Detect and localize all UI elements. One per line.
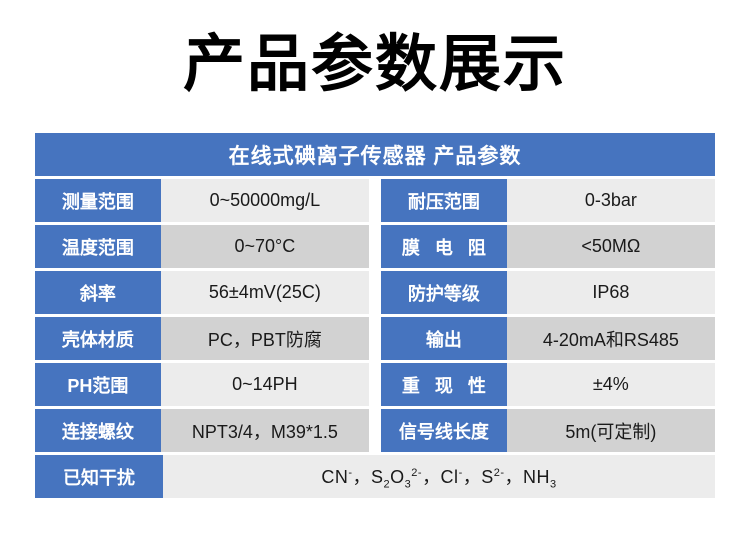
value-protection-grade: IP68 [507, 271, 715, 314]
product-spec-page: 产品参数展示 在线式碘离子传感器 产品参数 测量范围 0~50000mg/L 耐… [0, 0, 750, 550]
label-reproducibility: 重 现 性 [381, 363, 507, 406]
interference-formula: CN-，S2O32-，Cl-，S2-，NH3 [321, 463, 556, 491]
table-row: 温度范围 0~70°C 膜 电 阻 <50MΩ [35, 225, 715, 268]
spec-table: 在线式碘离子传感器 产品参数 测量范围 0~50000mg/L 耐压范围 0-3… [35, 133, 715, 498]
column-gap [369, 363, 381, 406]
table-row: PH范围 0~14PH 重 现 性 ±4% [35, 363, 715, 406]
value-housing-material: PC，PBT防腐 [161, 317, 369, 360]
column-gap [369, 179, 381, 222]
label-measuring-range: 测量范围 [35, 179, 161, 222]
value-membrane-resistance: <50MΩ [507, 225, 715, 268]
label-ph-range: PH范围 [35, 363, 161, 406]
label-cable-length: 信号线长度 [381, 409, 507, 452]
value-reproducibility: ±4% [507, 363, 715, 406]
table-row: 斜率 56±4mV(25C) 防护等级 IP68 [35, 271, 715, 314]
label-slope: 斜率 [35, 271, 161, 314]
value-known-interference: CN-，S2O32-，Cl-，S2-，NH3 [163, 455, 715, 498]
table-row: 已知干扰 CN-，S2O32-，Cl-，S2-，NH3 [35, 455, 715, 498]
label-output: 输出 [381, 317, 507, 360]
page-title: 产品参数展示 [0, 26, 750, 104]
column-gap [369, 317, 381, 360]
column-gap [369, 409, 381, 452]
column-gap [369, 225, 381, 268]
value-output: 4-20mA和RS485 [507, 317, 715, 360]
value-ph-range: 0~14PH [161, 363, 369, 406]
label-membrane-resistance: 膜 电 阻 [381, 225, 507, 268]
value-temperature-range: 0~70°C [161, 225, 369, 268]
column-gap [369, 271, 381, 314]
label-connection-thread: 连接螺纹 [35, 409, 161, 452]
value-connection-thread: NPT3/4，M39*1.5 [161, 409, 369, 452]
label-housing-material: 壳体材质 [35, 317, 161, 360]
label-pressure-range: 耐压范围 [381, 179, 507, 222]
value-slope: 56±4mV(25C) [161, 271, 369, 314]
label-temperature-range: 温度范围 [35, 225, 161, 268]
value-pressure-range: 0-3bar [507, 179, 715, 222]
table-row: 测量范围 0~50000mg/L 耐压范围 0-3bar [35, 179, 715, 222]
label-protection-grade: 防护等级 [381, 271, 507, 314]
table-header-title: 在线式碘离子传感器 产品参数 [35, 133, 715, 176]
value-cable-length: 5m(可定制) [507, 409, 715, 452]
table-row: 壳体材质 PC，PBT防腐 输出 4-20mA和RS485 [35, 317, 715, 360]
label-known-interference: 已知干扰 [35, 455, 163, 498]
table-row: 连接螺纹 NPT3/4，M39*1.5 信号线长度 5m(可定制) [35, 409, 715, 452]
value-measuring-range: 0~50000mg/L [161, 179, 369, 222]
